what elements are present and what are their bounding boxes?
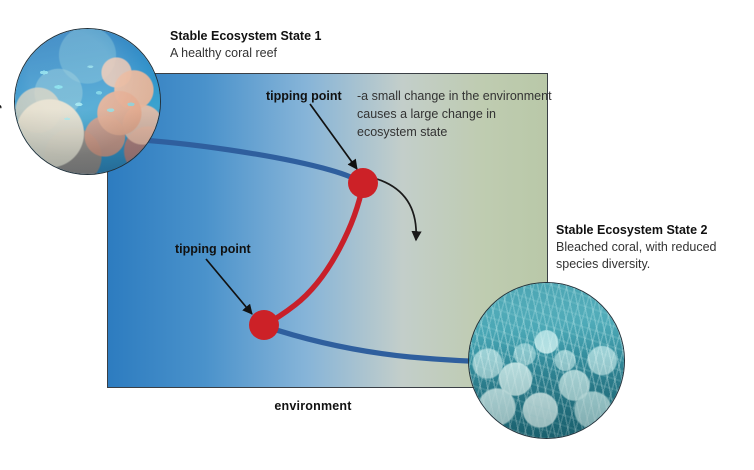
tipping-point-lower-arrow xyxy=(206,259,252,314)
reef-shading-layer xyxy=(15,29,160,174)
bleached-shading-layer xyxy=(469,283,624,438)
callout-state2-description: Bleached coral, with reduced species div… xyxy=(556,239,752,273)
tipping-point-marker-upper xyxy=(348,168,378,198)
callout-state1-title: Stable Ecosystem State 1 xyxy=(170,28,400,45)
figure-canvas: ecosystem state environment xyxy=(0,0,754,470)
callout-state2-title: Stable Ecosystem State 2 xyxy=(556,222,752,239)
callout-state1-description: A healthy coral reef xyxy=(170,45,400,62)
tipping-point-label-lower: tipping point xyxy=(175,242,251,256)
healthy-coral-reef-photo xyxy=(14,28,161,175)
state-transition-arrow xyxy=(377,179,416,240)
tipping-point-description: -a small change in the environment cause… xyxy=(357,88,553,141)
callout-stable-state-2: Stable Ecosystem State 2 Bleached coral,… xyxy=(556,222,752,273)
tipping-point-label-upper: tipping point xyxy=(266,89,342,103)
tipping-point-upper-arrow xyxy=(310,104,357,169)
unstable-branch-curve xyxy=(264,184,363,325)
bleached-coral-reef-photo xyxy=(468,282,625,439)
tipping-point-marker-lower xyxy=(249,310,279,340)
callout-stable-state-1: Stable Ecosystem State 1 A healthy coral… xyxy=(170,28,400,62)
